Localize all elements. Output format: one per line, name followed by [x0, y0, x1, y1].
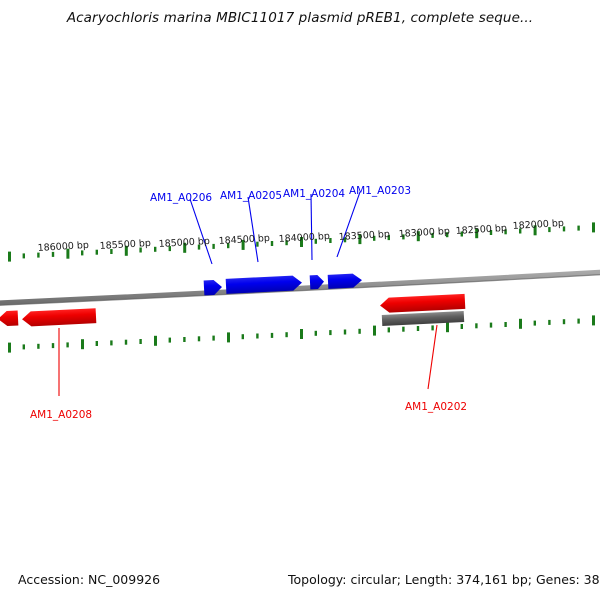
tick-mark-icon [23, 344, 25, 349]
gene-label-am1_a0206[interactable]: AM1_A0206 [150, 192, 212, 204]
tick-mark-icon [344, 330, 346, 335]
tick-mark-icon [519, 319, 522, 329]
tick-mark-icon [66, 342, 68, 347]
tick-mark-icon [8, 252, 11, 262]
tick-mark-icon [417, 326, 419, 331]
leader-line-am1_a0205 [248, 197, 258, 262]
tick-mark-icon [329, 330, 331, 335]
tick-mark-icon [475, 323, 477, 328]
tick-mark-icon [227, 332, 230, 342]
tick-mark-icon [110, 340, 112, 345]
leader-line-am1_a0202 [428, 325, 437, 389]
tick-mark-icon [125, 340, 127, 345]
tick-mark-icon [81, 339, 84, 349]
tick-mark-icon [285, 332, 287, 337]
tick-mark-icon [315, 331, 317, 336]
tick-mark-icon [461, 324, 463, 329]
tick-mark-icon [139, 339, 141, 344]
tick-mark-icon [592, 222, 595, 232]
tick-mark-icon [490, 323, 492, 328]
tick-mark-icon [8, 343, 11, 353]
tick-mark-icon [212, 244, 214, 249]
tick-mark-icon [183, 337, 185, 342]
leader-line-am1_a0204 [311, 194, 312, 260]
label-leader-lines [59, 192, 437, 396]
tick-mark-icon [52, 343, 54, 348]
gene-label-am1_a0204[interactable]: AM1_A0204 [283, 188, 345, 200]
gene-label-am1_a0203[interactable]: AM1_A0203 [349, 185, 411, 197]
tick-mark-icon [358, 329, 360, 334]
tick-mark-icon [431, 325, 433, 330]
tick-mark-icon [577, 226, 579, 231]
tick-mark-icon [37, 344, 39, 349]
tick-mark-icon [154, 336, 157, 346]
gene-arrow-am1_a0202[interactable] [380, 294, 466, 313]
tick-mark-icon [96, 250, 98, 255]
tick-mark-icon [373, 326, 376, 336]
tick-mark-icon [300, 329, 303, 339]
tick-mark-icon [563, 319, 565, 324]
feature-bar-am1_a0202-region[interactable] [382, 311, 464, 326]
gene-arrow-am1_a0208[interactable] [22, 308, 97, 327]
gene-label-am1_a0205[interactable]: AM1_A0205 [220, 190, 282, 202]
tick-mark-icon [388, 327, 390, 332]
tick-mark-icon [534, 321, 536, 326]
tick-mark-icon [504, 322, 506, 327]
tick-mark-icon [271, 333, 273, 338]
leader-line-am1_a0203 [337, 192, 360, 257]
sequence-axis[interactable] [0, 272, 600, 306]
gene-arrow-am1_a0208-partial[interactable] [0, 311, 18, 327]
gene-label-am1_a0202[interactable]: AM1_A0202 [405, 401, 467, 413]
tick-mark-icon [592, 315, 595, 325]
graphics-layer [0, 0, 600, 600]
tick-mark-icon [271, 241, 273, 246]
tick-mark-icon [256, 334, 258, 339]
tick-mark-icon [402, 327, 404, 332]
tick-mark-icon [154, 247, 156, 252]
tick-mark-icon [169, 338, 171, 343]
tick-mark-icon [548, 320, 550, 325]
gene-label-am1_a0208[interactable]: AM1_A0208 [30, 409, 92, 421]
tick-mark-icon [577, 319, 579, 324]
tick-mark-icon [23, 253, 25, 258]
tick-mark-icon [446, 322, 449, 332]
accession-status: Accession: NC_009926 [18, 572, 160, 587]
tick-mark-icon [242, 334, 244, 339]
tick-mark-icon [198, 336, 200, 341]
sequence-summary-status: Topology: circular; Length: 374,161 bp; … [288, 572, 600, 587]
sequence-viewer-canvas[interactable]: Acaryochloris marina MBIC11017 plasmid p… [0, 0, 600, 600]
leader-line-am1_a0206 [190, 199, 212, 264]
tick-mark-icon [96, 341, 98, 346]
tick-mark-icon [212, 336, 214, 341]
